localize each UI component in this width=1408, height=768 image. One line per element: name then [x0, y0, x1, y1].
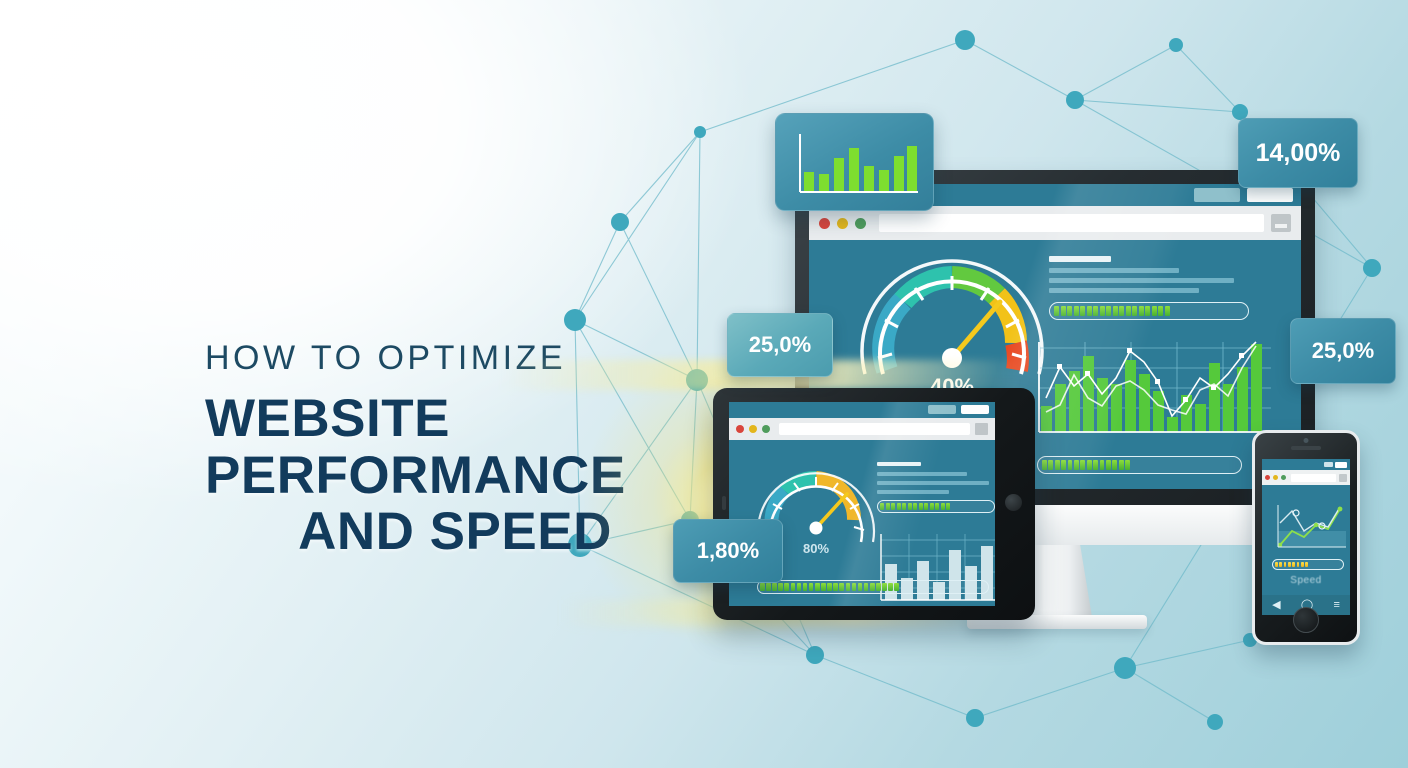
window-maximize-dot[interactable]	[1281, 475, 1286, 480]
progress-fill	[1042, 460, 1130, 470]
window-close-dot[interactable]	[1265, 475, 1270, 480]
url-input[interactable]	[1291, 474, 1336, 482]
monitor-combo-chart	[1025, 336, 1275, 446]
browser-toolbar	[1262, 470, 1350, 485]
phone-status-bar	[1262, 459, 1350, 470]
menu-icon[interactable]: ≡	[1333, 600, 1339, 611]
tablet-device: 80%	[713, 388, 1035, 620]
phone-caption: Speed	[1262, 575, 1350, 586]
floating-bar-chart	[790, 128, 920, 198]
window-close-dot[interactable]	[819, 218, 830, 229]
text-line	[877, 481, 989, 485]
phone-home-button[interactable]	[1293, 607, 1319, 633]
back-icon[interactable]: ◀	[1272, 600, 1280, 611]
signal-icon	[1324, 462, 1333, 467]
headline-block: HOW TO OPTIMIZE WEBSITE PERFORMANCE AND …	[205, 340, 705, 560]
progress-fill	[760, 583, 899, 591]
window-minimize-dot[interactable]	[837, 218, 848, 229]
text-line	[1049, 278, 1234, 283]
browser-tab-strip[interactable]	[1194, 188, 1293, 202]
tablet-bar-chart	[869, 528, 995, 606]
text-line	[877, 472, 967, 476]
battery-icon	[1335, 462, 1347, 468]
tablet-home-button[interactable]	[1005, 494, 1022, 511]
text-line	[1049, 256, 1111, 262]
smartphone-device: Speed ◀ ◯ ≡	[1252, 430, 1360, 645]
title-line-1: WEBSITE PERFORMANCE	[205, 389, 626, 504]
text-line	[877, 490, 949, 494]
headline-kicker: HOW TO OPTIMIZE	[205, 340, 705, 377]
phone-screen: Speed	[1262, 459, 1350, 595]
phone-line-chart	[1270, 501, 1350, 553]
status-badge: 14,00%	[1238, 118, 1358, 188]
window-minimize-dot[interactable]	[1273, 475, 1278, 480]
browser-tab[interactable]	[928, 405, 956, 414]
status-badge: 1,80%	[673, 519, 783, 583]
window-close-dot[interactable]	[736, 425, 744, 433]
floating-bar-chart-card	[775, 113, 934, 211]
text-line	[877, 462, 921, 466]
phone-speaker	[1291, 446, 1321, 450]
browser-toolbar	[809, 206, 1301, 240]
url-input[interactable]	[879, 214, 1264, 232]
text-line	[1049, 268, 1179, 273]
progress-fill	[1275, 562, 1308, 567]
phone-camera	[1304, 438, 1309, 443]
poster-canvas: HOW TO OPTIMIZE WEBSITE PERFORMANCE AND …	[0, 0, 1408, 768]
browser-tab-active[interactable]	[1247, 188, 1293, 202]
menu-icon[interactable]	[975, 423, 988, 435]
monitor-gauge: 40%	[857, 248, 1047, 398]
browser-tab-strip[interactable]	[928, 405, 989, 414]
progress-fill	[880, 503, 954, 510]
menu-icon[interactable]	[1271, 214, 1291, 232]
window-maximize-dot[interactable]	[855, 218, 866, 229]
text-line	[1049, 288, 1199, 293]
browser-tab-active[interactable]	[961, 405, 989, 414]
gauge-value-label: 80%	[803, 541, 829, 556]
browser-toolbar	[729, 418, 995, 440]
window-minimize-dot[interactable]	[749, 425, 757, 433]
tablet-side-button	[722, 496, 726, 510]
browser-tab[interactable]	[1194, 188, 1240, 202]
menu-icon[interactable]	[1339, 474, 1347, 482]
status-badge: 25,0%	[727, 313, 833, 377]
page-title: WEBSITE PERFORMANCE AND SPEED	[205, 391, 705, 560]
status-badge: 25,0%	[1290, 318, 1396, 384]
title-line-2: AND SPEED	[205, 504, 705, 560]
url-input[interactable]	[779, 423, 970, 435]
progress-fill	[1054, 306, 1170, 316]
window-maximize-dot[interactable]	[762, 425, 770, 433]
